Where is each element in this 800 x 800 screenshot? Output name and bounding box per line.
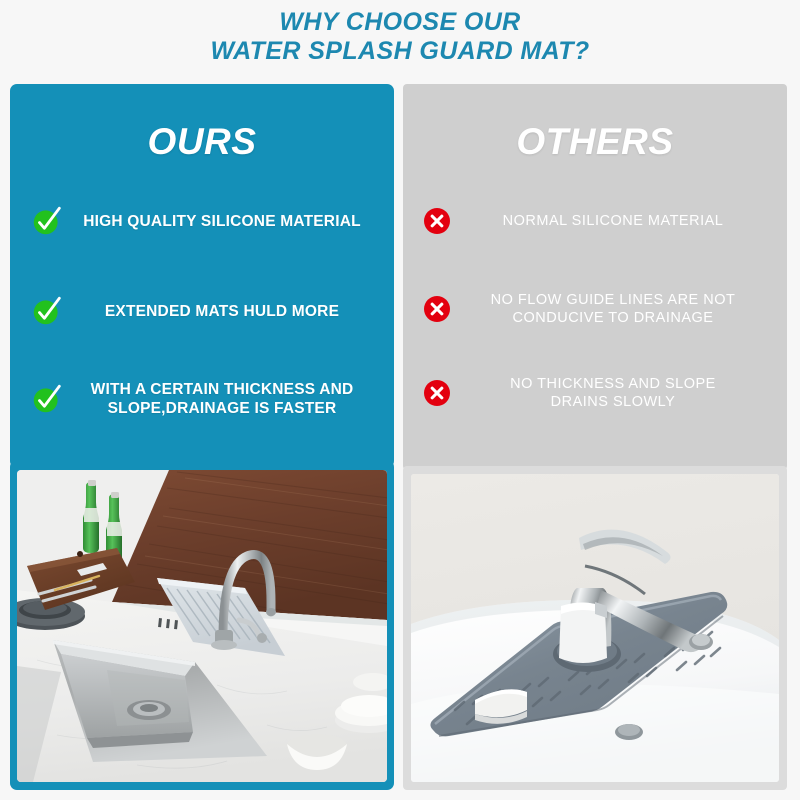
- others-feature-row-1: NORMAL SILICONE MATERIAL: [403, 188, 787, 254]
- ours-feature-row-2: EXTENDED MATS HULD MORE: [10, 278, 394, 344]
- ours-feature-text-3: WITH A CERTAIN THICKNESS AND SLOPE,DRAIN…: [62, 380, 378, 418]
- others-feature-list: NORMAL SILICONE MATERIAL NO FLOW GUIDE L…: [403, 188, 787, 426]
- check-circle-icon: [32, 206, 62, 236]
- ours-feature-list: HIGH QUALITY SILICONE MATERIAL EXTENDED …: [10, 188, 394, 432]
- cross-circle-icon: [423, 379, 451, 407]
- ours-product-photo: [17, 470, 387, 782]
- others-panel-title: OTHERS: [403, 122, 787, 162]
- page-title-line-1: WHY CHOOSE OUR: [0, 8, 800, 37]
- cross-circle-icon: [423, 295, 451, 323]
- others-panel: OTHERS NORMAL SILICONE MATERIAL: [403, 84, 787, 470]
- check-circle-icon: [32, 384, 62, 414]
- ours-feature-text-2: EXTENDED MATS HULD MORE: [62, 302, 378, 321]
- page-title: WHY CHOOSE OUR WATER SPLASH GUARD MAT?: [0, 8, 800, 66]
- comparison-panels: OURS HIGH QUALITY SILICONE MATERIAL: [0, 84, 800, 800]
- ours-feature-text-1: HIGH QUALITY SILICONE MATERIAL: [62, 212, 378, 231]
- cross-circle-icon: [423, 207, 451, 235]
- others-feature-text-1: NORMAL SILICONE MATERIAL: [451, 212, 773, 230]
- page-title-line-2: WATER SPLASH GUARD MAT?: [0, 37, 800, 66]
- others-feature-text-3: NO THICKNESS AND SLOPE DRAINS SLOWLY: [451, 375, 773, 411]
- ours-feature-row-3: WITH A CERTAIN THICKNESS AND SLOPE,DRAIN…: [10, 366, 394, 432]
- ours-panel-title: OURS: [10, 122, 394, 162]
- others-feature-row-2: NO FLOW GUIDE LINES ARE NOT CONDUCIVE TO…: [403, 276, 787, 342]
- others-feature-row-3: NO THICKNESS AND SLOPE DRAINS SLOWLY: [403, 360, 787, 426]
- check-circle-icon: [32, 296, 62, 326]
- others-product-photo: [411, 474, 779, 782]
- ours-panel: OURS HIGH QUALITY SILICONE MATERIAL: [10, 84, 394, 468]
- others-feature-text-2: NO FLOW GUIDE LINES ARE NOT CONDUCIVE TO…: [451, 291, 773, 327]
- ours-feature-row-1: HIGH QUALITY SILICONE MATERIAL: [10, 188, 394, 254]
- ours-photo-frame: [10, 460, 394, 790]
- others-photo-frame: [403, 466, 787, 790]
